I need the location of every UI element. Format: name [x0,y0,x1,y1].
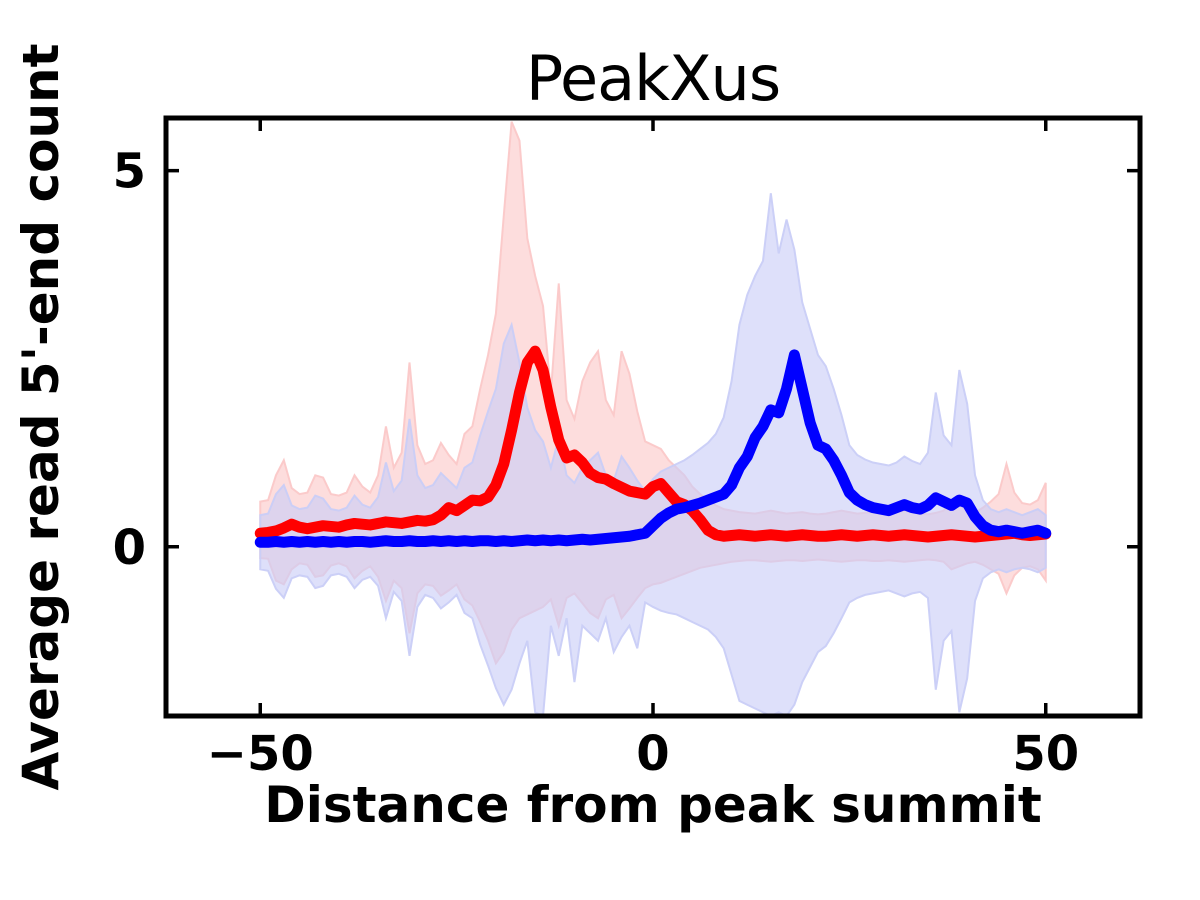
y-tick-label: 0 [113,520,146,576]
x-tick-label: 0 [636,726,669,782]
x-tick-label: −50 [207,726,314,782]
chart-canvas: −5005005 PeakXus Distance from peak summ… [0,0,1200,900]
y-axis-label: Average read 5'-end count [12,43,70,790]
x-axis-label: Distance from peak summit [264,776,1042,834]
plot-area-background [166,118,1140,716]
chart-title: PeakXus [526,42,780,115]
y-tick-label: 5 [113,144,146,200]
chart-figure: −5005005 PeakXus Distance from peak summ… [0,0,1200,900]
x-tick-label: 50 [1012,726,1079,782]
